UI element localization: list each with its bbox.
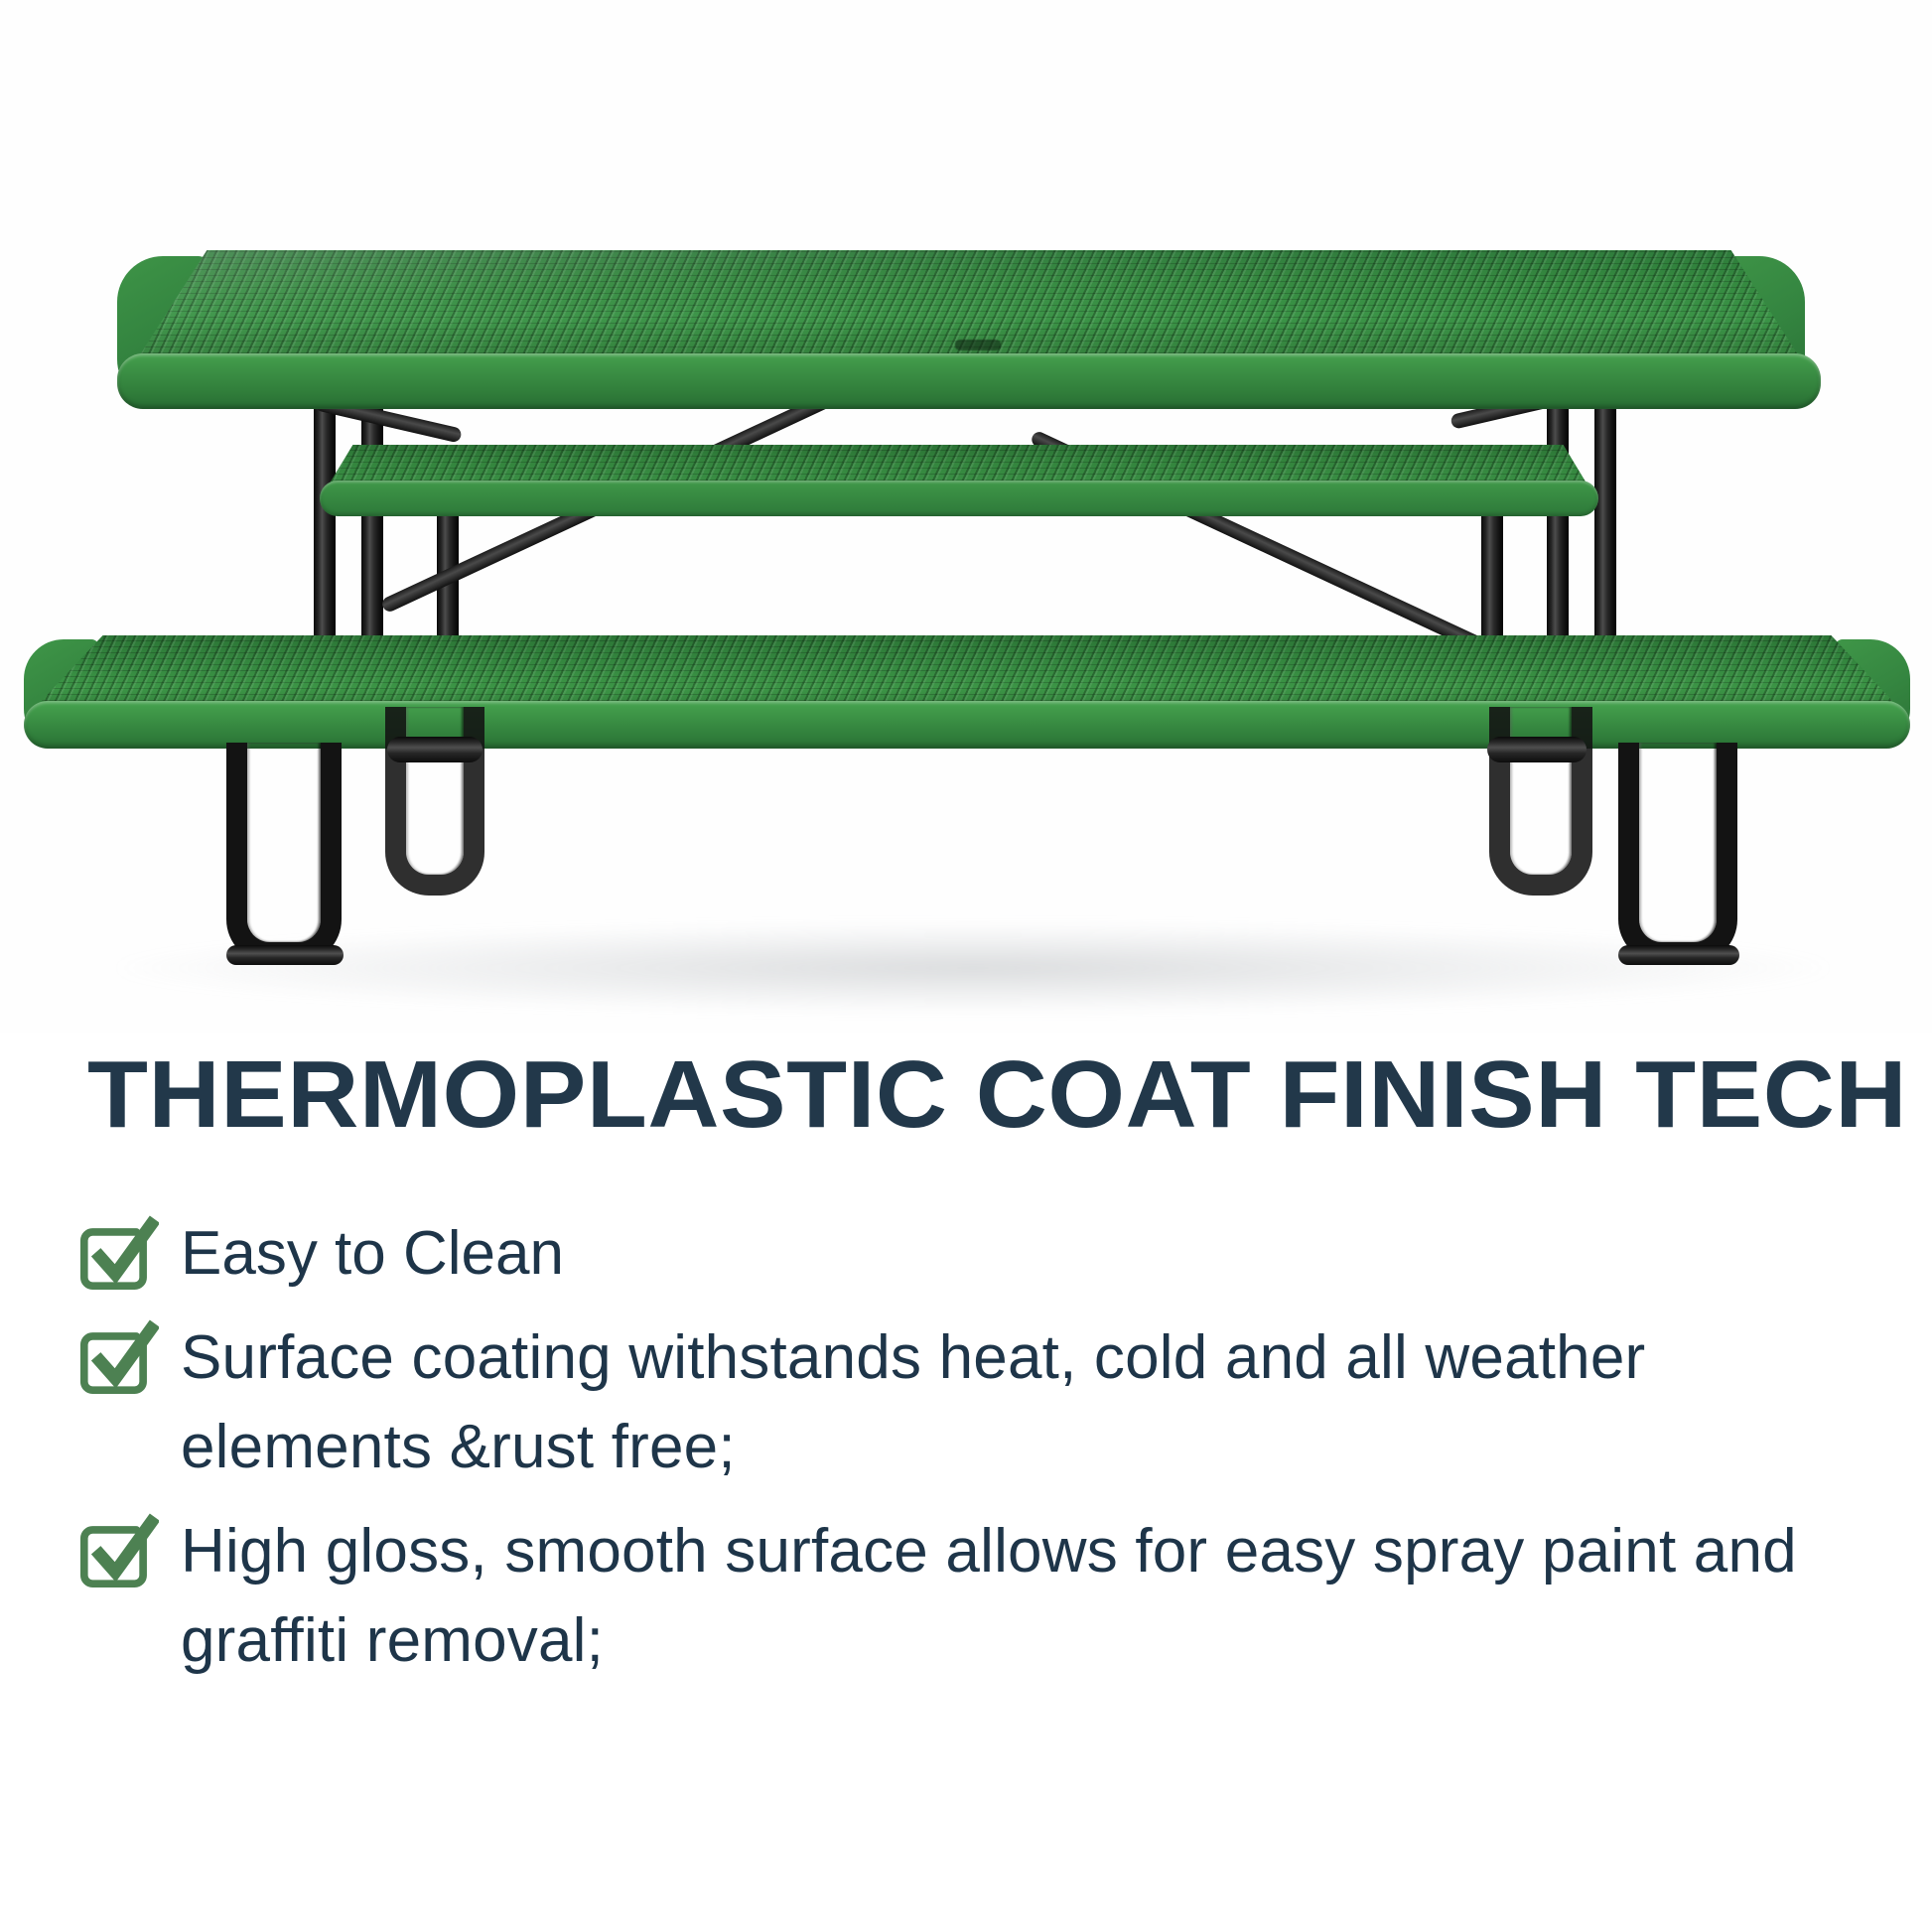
u-leg-rear-left [385, 707, 484, 896]
list-item: Easy to Clean [73, 1209, 1900, 1300]
u-leg-rear-right [1489, 707, 1592, 896]
list-item: High gloss, smooth surface allows for ea… [73, 1507, 1900, 1687]
list-item-label: Easy to Clean [181, 1209, 564, 1300]
foot-pad-left [226, 945, 344, 965]
foot-pad-right [1618, 945, 1739, 965]
bench-front-face [36, 635, 1898, 707]
tabletop-center-mark [955, 340, 1001, 350]
u-leg-front-left [226, 743, 342, 963]
checkbox-checked-icon [73, 1513, 159, 1590]
ground-shadow [119, 923, 1827, 1013]
bench-bracket-left [387, 737, 483, 762]
bench-bracket-right [1487, 737, 1587, 762]
bench-front-edge [24, 701, 1910, 749]
tabletop-edge [117, 353, 1821, 409]
page-title: THERMOPLASTIC COAT FINISH TECH [87, 1046, 1932, 1144]
bench-rear-edge [320, 481, 1598, 516]
list-item-label: Surface coating withstands heat, cold an… [181, 1313, 1888, 1493]
u-leg-front-right [1618, 743, 1737, 963]
product-photo [0, 0, 1932, 1033]
checkbox-checked-icon [73, 1215, 159, 1293]
list-item: Surface coating withstands heat, cold an… [73, 1313, 1900, 1493]
bench-front-surface [36, 635, 1898, 707]
checkbox-checked-icon [73, 1319, 159, 1397]
feature-list: Easy to Clean Surface coating withstands… [73, 1209, 1900, 1701]
list-item-label: High gloss, smooth surface allows for ea… [181, 1507, 1888, 1687]
product-feature-page: THERMOPLASTIC COAT FINISH TECH Easy to C… [0, 0, 1932, 1932]
bench-front-mesh-texture [36, 635, 1898, 707]
